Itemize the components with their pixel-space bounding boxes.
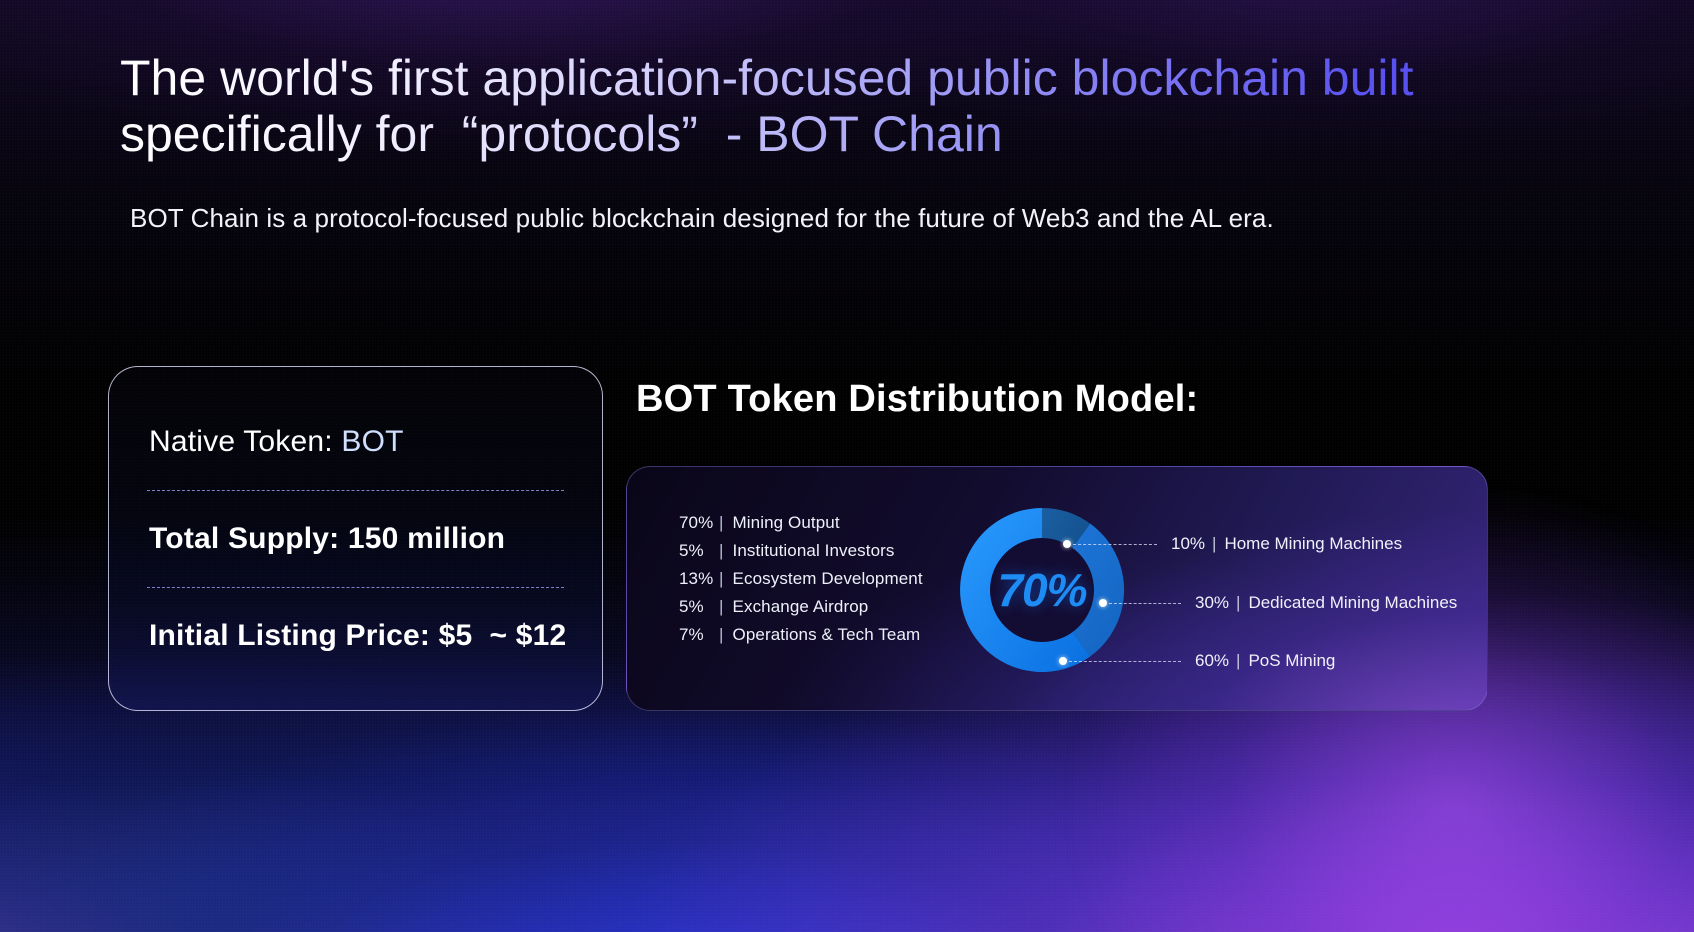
callout-dot-icon — [1099, 599, 1107, 607]
callout-label: Home Mining Machines — [1224, 534, 1402, 553]
legend-separator: | — [719, 625, 724, 645]
callout-text: 10%|Home Mining Machines — [1171, 534, 1402, 554]
legend-separator: | — [719, 513, 724, 533]
chart-heading: BOT Token Distribution Model: — [636, 378, 1198, 421]
page-title: The world's first application-focused pu… — [120, 50, 1540, 162]
legend-separator: | — [719, 597, 724, 617]
legend-label: Ecosystem Development — [733, 569, 923, 589]
info-value-native-token: BOT — [341, 425, 403, 459]
callout-separator: | — [1236, 651, 1240, 670]
callout-percent: 10% — [1171, 534, 1205, 553]
callout-percent: 30% — [1195, 593, 1229, 612]
legend-percent: 5% — [679, 597, 719, 617]
callout-percent: 60% — [1195, 651, 1229, 670]
legend-percent: 13% — [679, 569, 719, 589]
legend-separator: | — [719, 569, 724, 589]
legend-percent: 5% — [679, 541, 719, 561]
legend-percent: 70% — [679, 513, 719, 533]
allocation-legend: 70% | Mining Output 5% | Institutional I… — [679, 513, 923, 645]
callout-dot-icon — [1063, 540, 1071, 548]
legend-label: Institutional Investors — [733, 541, 895, 561]
callout-pos-mining: 60%|PoS Mining — [1059, 651, 1335, 671]
callout-leader-line — [1073, 544, 1157, 545]
callout-label: PoS Mining — [1248, 651, 1335, 670]
legend-percent: 7% — [679, 625, 719, 645]
list-item: 7% | Operations & Tech Team — [679, 625, 923, 645]
info-row-listing-price: Initial Listing Price: $5 ~ $12 — [149, 588, 562, 684]
legend-separator: | — [719, 541, 724, 561]
callout-text: 60%|PoS Mining — [1195, 651, 1335, 671]
list-item: 5% | Institutional Investors — [679, 541, 923, 561]
token-info-card: Native Token: BOT Total Supply: 150 mill… — [108, 366, 603, 711]
callout-text: 30%|Dedicated Mining Machines — [1195, 593, 1457, 613]
callout-separator: | — [1212, 534, 1216, 553]
page-subtitle: BOT Chain is a protocol-focused public b… — [130, 203, 1530, 234]
info-row-native-token: Native Token: BOT — [149, 394, 562, 490]
callout-leader-line — [1109, 603, 1181, 604]
callout-label: Dedicated Mining Machines — [1248, 593, 1457, 612]
list-item: 13% | Ecosystem Development — [679, 569, 923, 589]
slide-canvas: The world's first application-focused pu… — [0, 0, 1694, 932]
info-row-total-supply: Total Supply: 150 million — [149, 491, 562, 587]
callout-leader-line — [1069, 661, 1181, 662]
callout-separator: | — [1236, 593, 1240, 612]
callout-dedicated-mining: 30%|Dedicated Mining Machines — [1099, 593, 1457, 613]
callout-dot-icon — [1059, 657, 1067, 665]
list-item: 70% | Mining Output — [679, 513, 923, 533]
callout-home-mining: 10%|Home Mining Machines — [1063, 534, 1402, 554]
legend-label: Operations & Tech Team — [733, 625, 921, 645]
list-item: 5% | Exchange Airdrop — [679, 597, 923, 617]
token-distribution-card: 70% | Mining Output 5% | Institutional I… — [626, 466, 1488, 711]
legend-label: Mining Output — [733, 513, 840, 533]
info-label-native-token: Native Token: — [149, 425, 341, 459]
legend-label: Exchange Airdrop — [733, 597, 869, 617]
